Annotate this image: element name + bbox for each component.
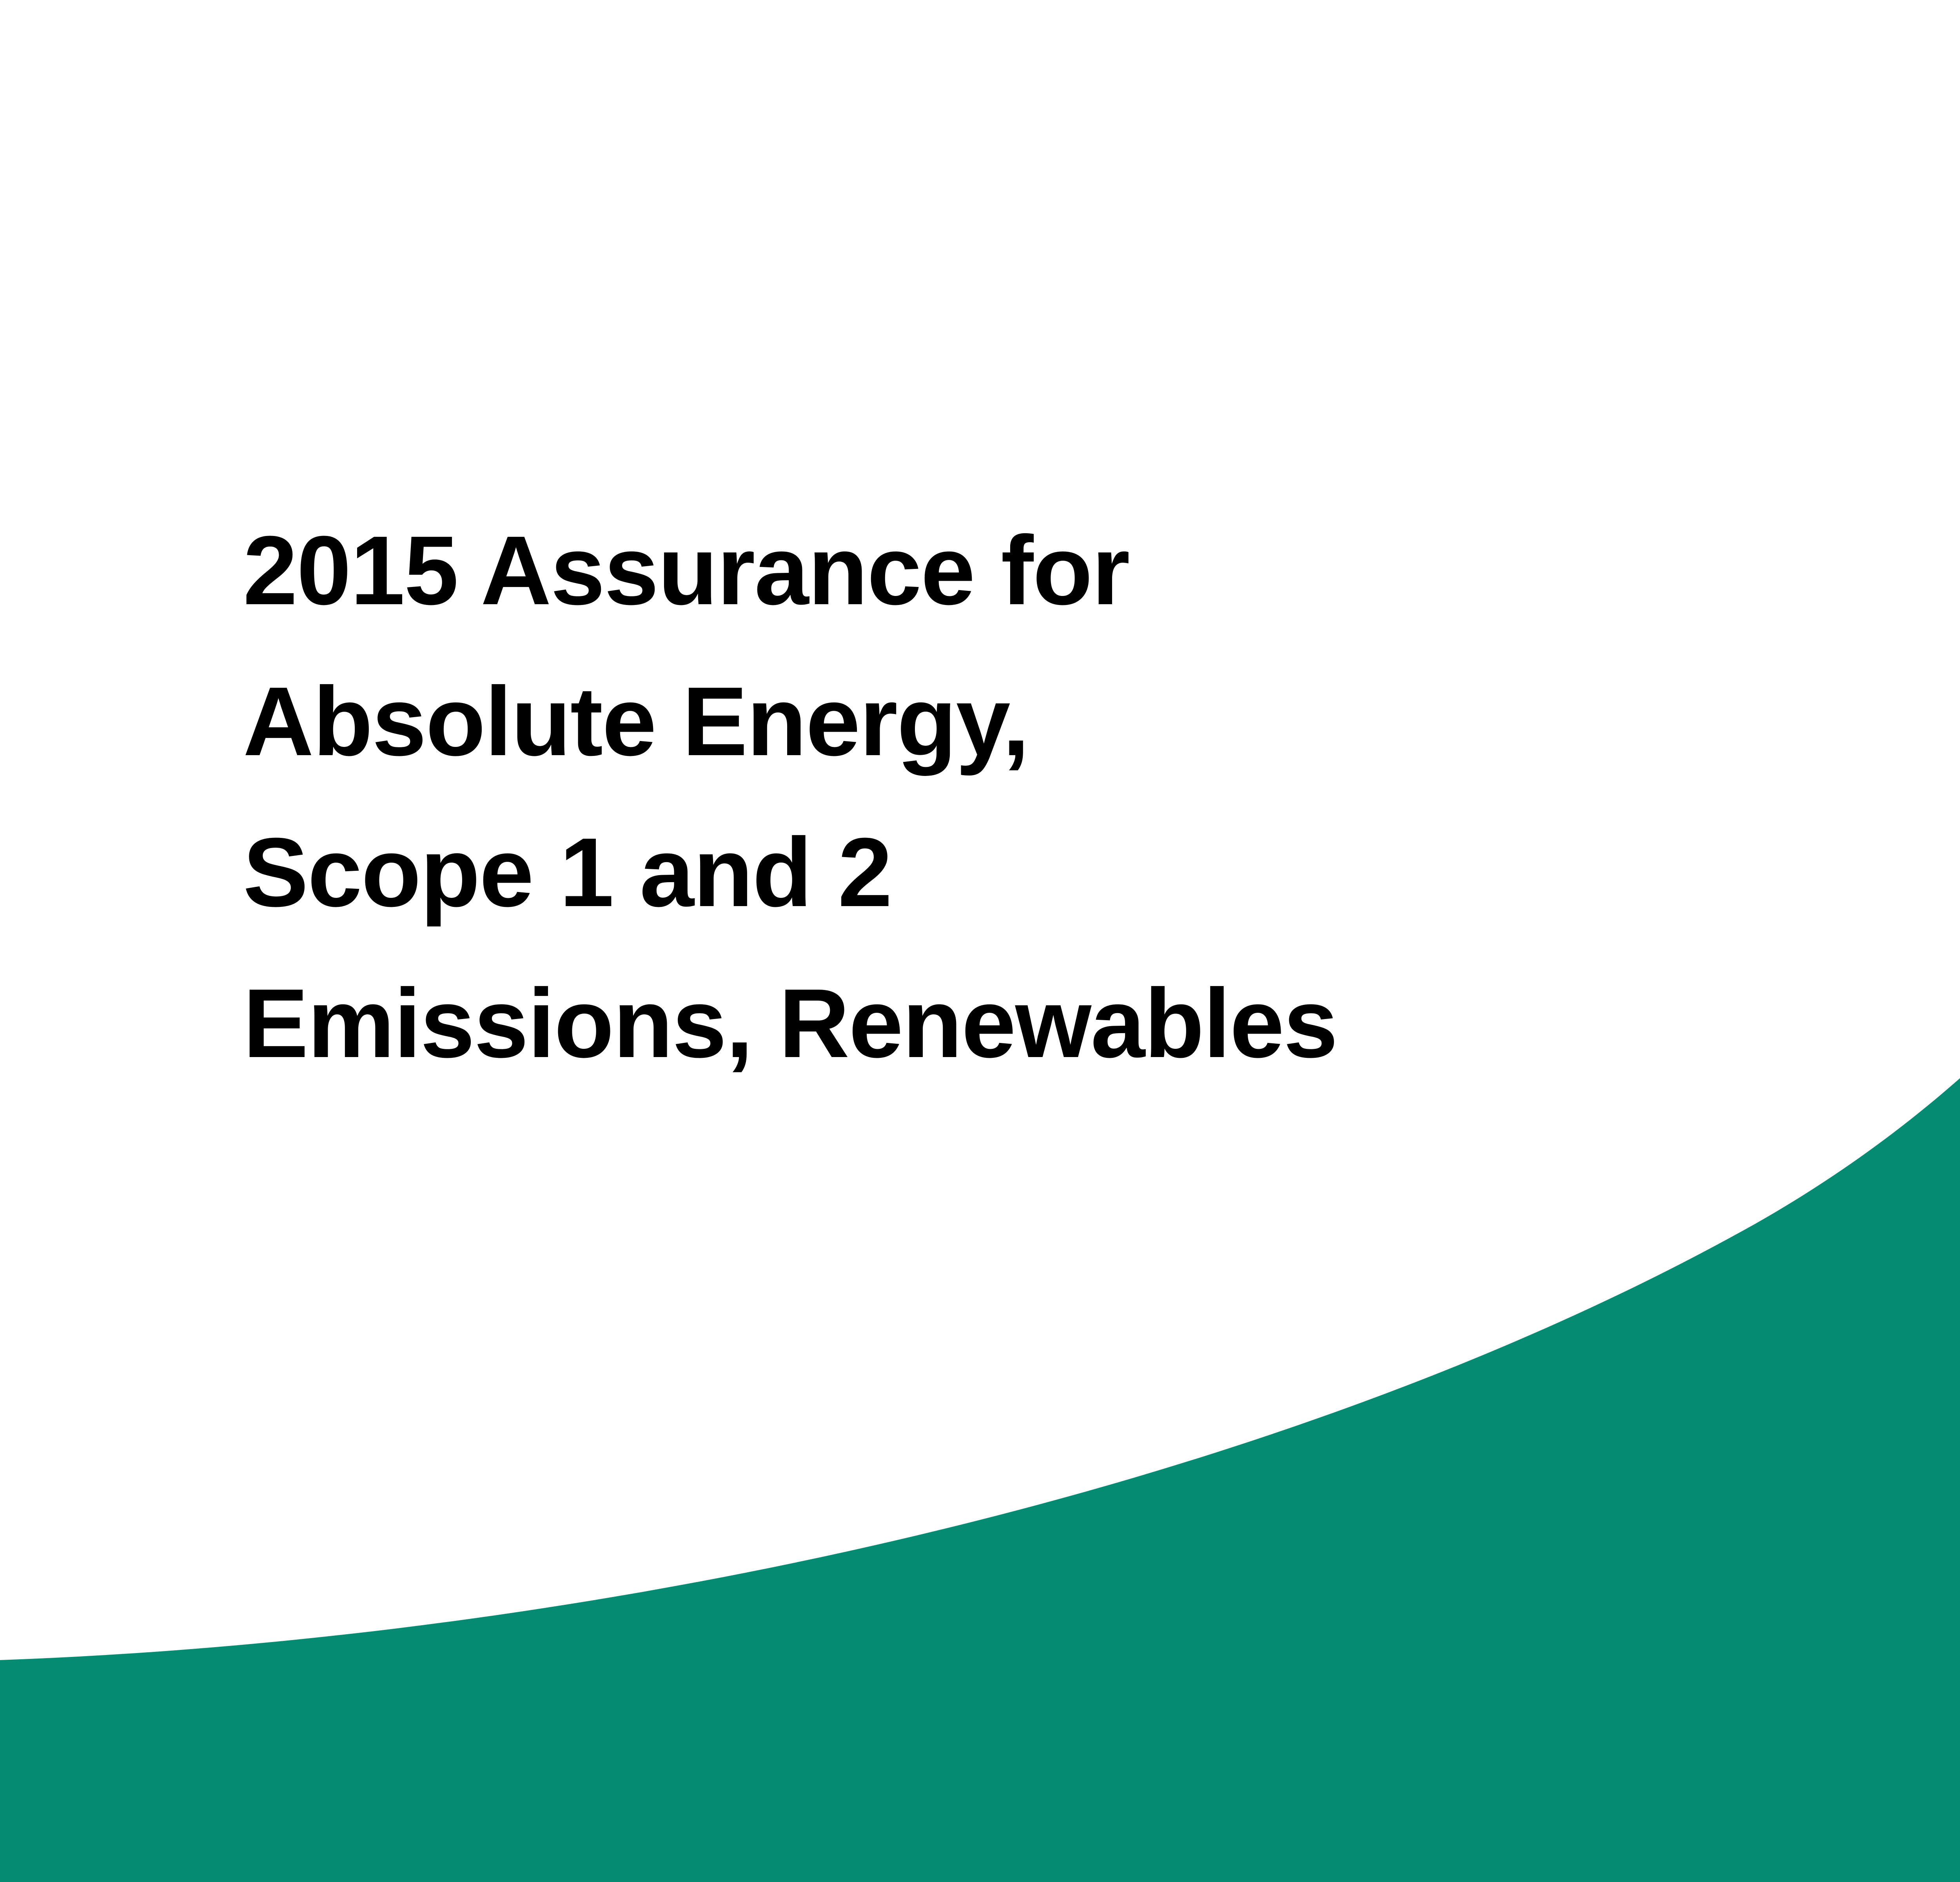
title-line-2: Absolute Energy, — [243, 646, 1889, 797]
page-title: 2015 Assurance for Absolute Energy, Scop… — [243, 495, 1889, 1099]
title-line-1: 2015 Assurance for — [243, 495, 1889, 646]
title-line-3: Scope 1 and 2 — [243, 797, 1889, 948]
report-cover-page: 2015 Assurance for Absolute Energy, Scop… — [0, 0, 1960, 1882]
title-line-4: Emissions, Renewables — [243, 948, 1889, 1099]
